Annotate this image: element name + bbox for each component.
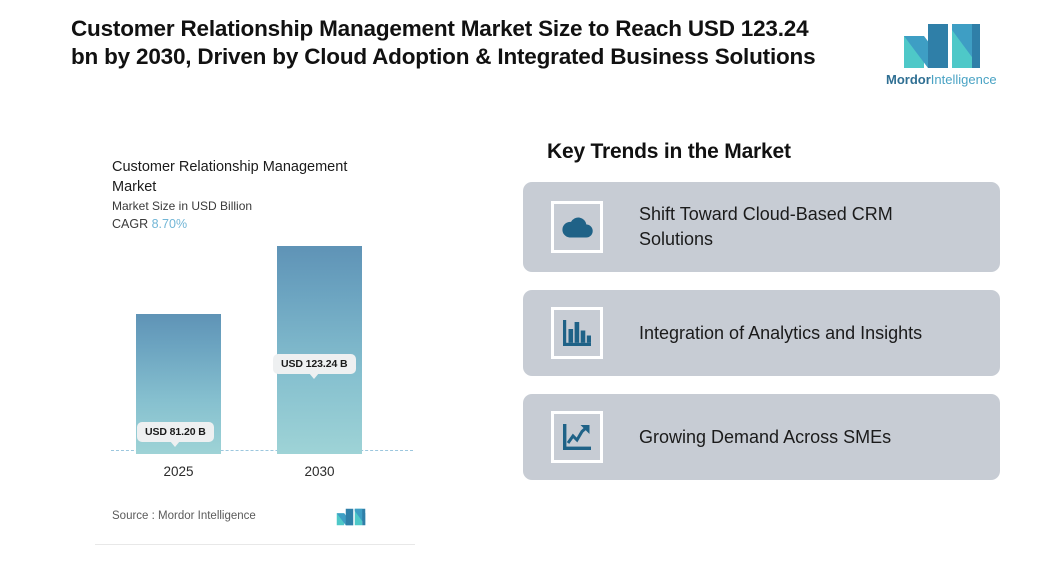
bar-2030 xyxy=(277,246,362,454)
chart-cagr: CAGR 8.70% xyxy=(112,217,187,231)
market-size-chart-panel: Customer Relationship Management Market … xyxy=(95,134,415,545)
trending-up-icon-glyph xyxy=(561,422,593,452)
x-axis-tick-2030: 2030 xyxy=(277,464,362,479)
page-header: Customer Relationship Management Market … xyxy=(0,0,1060,120)
trend-label-cloud: Shift Toward Cloud-Based CRM Solutions xyxy=(639,202,969,252)
chart-source-label: Source : Mordor Intelligence xyxy=(112,510,256,522)
cagr-value: 8.70% xyxy=(152,217,187,231)
bar-chart-icon xyxy=(551,307,603,359)
x-axis-tick-2025: 2025 xyxy=(136,464,221,479)
bar-chart-icon-glyph xyxy=(561,318,593,348)
cloud-icon-glyph xyxy=(560,214,594,240)
bar-value-label-2030: USD 123.24 B xyxy=(273,354,356,374)
trend-card-smes[interactable]: Growing Demand Across SMEs xyxy=(523,394,1000,480)
brand-word-bold: Mordor xyxy=(886,72,931,87)
trend-label-smes: Growing Demand Across SMEs xyxy=(639,425,891,450)
brand-word-light: Intelligence xyxy=(931,72,997,87)
trend-card-cloud[interactable]: Shift Toward Cloud-Based CRM Solutions xyxy=(523,182,1000,272)
key-trends-heading: Key Trends in the Market xyxy=(547,140,1000,164)
chart-subtitle: Market Size in USD Billion xyxy=(112,199,252,213)
mordor-logo-mark xyxy=(902,22,982,70)
bar-value-label-2025: USD 81.20 B xyxy=(137,422,214,442)
trending-up-icon xyxy=(551,411,603,463)
mordor-logo-mark-small xyxy=(336,508,366,526)
chart-plot-area: USD 81.20 B USD 123.24 B 2025 2030 xyxy=(95,244,415,489)
mordor-logo-wordmark: MordorIntelligence xyxy=(886,72,996,87)
cloud-icon xyxy=(551,201,603,253)
page-title: Customer Relationship Management Market … xyxy=(71,15,841,71)
mordor-intelligence-logo: MordorIntelligence xyxy=(886,22,996,94)
key-trends-section: Key Trends in the Market Shift Toward Cl… xyxy=(523,140,1000,498)
trend-card-analytics[interactable]: Integration of Analytics and Insights xyxy=(523,290,1000,376)
chart-title: Customer Relationship Management Market xyxy=(112,157,392,197)
trend-label-analytics: Integration of Analytics and Insights xyxy=(639,321,922,346)
cagr-label: CAGR xyxy=(112,217,148,231)
